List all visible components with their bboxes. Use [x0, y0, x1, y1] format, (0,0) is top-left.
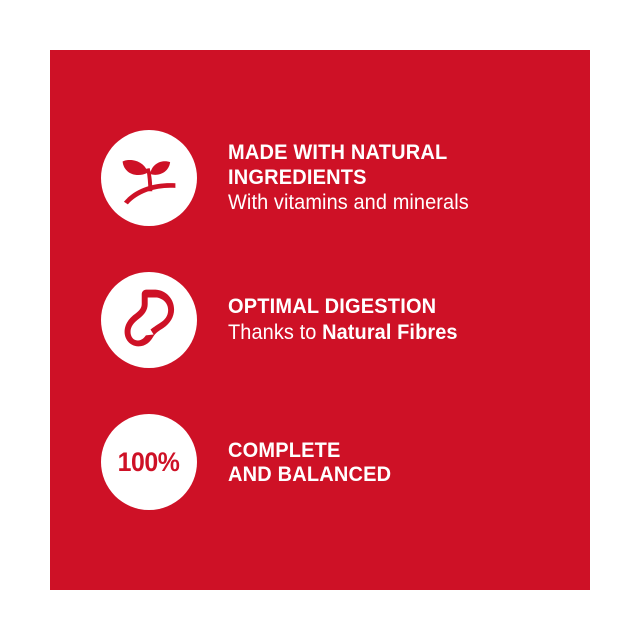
icon-badge-complete-balanced: 100%: [101, 414, 197, 510]
feature-title-complete-balanced: COMPLETE AND BALANCED: [228, 438, 565, 487]
feature-list: MADE WITH NATURAL INGREDIENTS With vitam…: [50, 50, 590, 590]
feature-subtitle-emphasis: Natural Fibres: [322, 321, 457, 344]
hundred-percent-badge-icon: 100%: [118, 449, 180, 476]
stomach-digestion-icon: [116, 287, 182, 353]
feature-item-natural-ingredients: MADE WITH NATURAL INGREDIENTS With vitam…: [50, 130, 590, 226]
icon-badge-natural-ingredients: [101, 130, 197, 226]
feature-item-optimal-digestion: OPTIMAL DIGESTION Thanks to Natural Fibr…: [50, 272, 590, 368]
seedling-plant-icon: [116, 145, 182, 211]
feature-subtitle-plain: With vitamins and minerals: [228, 191, 469, 214]
feature-title-natural-ingredients: MADE WITH NATURAL INGREDIENTS: [228, 140, 565, 189]
benefits-panel: MADE WITH NATURAL INGREDIENTS With vitam…: [50, 50, 590, 590]
feature-text-complete-balanced: COMPLETE AND BALANCED: [228, 438, 590, 487]
icon-badge-optimal-digestion: [101, 272, 197, 368]
feature-item-complete-balanced: 100% COMPLETE AND BALANCED: [50, 414, 590, 510]
feature-subtitle-optimal-digestion: Thanks to Natural Fibres: [228, 320, 572, 346]
feature-subtitle-plain: Thanks to: [228, 321, 322, 344]
feature-text-natural-ingredients: MADE WITH NATURAL INGREDIENTS With vitam…: [228, 140, 590, 216]
screenshot-canvas: MADE WITH NATURAL INGREDIENTS With vitam…: [0, 0, 640, 640]
feature-title-optimal-digestion: OPTIMAL DIGESTION: [228, 294, 565, 319]
feature-text-optimal-digestion: OPTIMAL DIGESTION Thanks to Natural Fibr…: [228, 294, 590, 345]
feature-subtitle-natural-ingredients: With vitamins and minerals: [228, 190, 572, 216]
